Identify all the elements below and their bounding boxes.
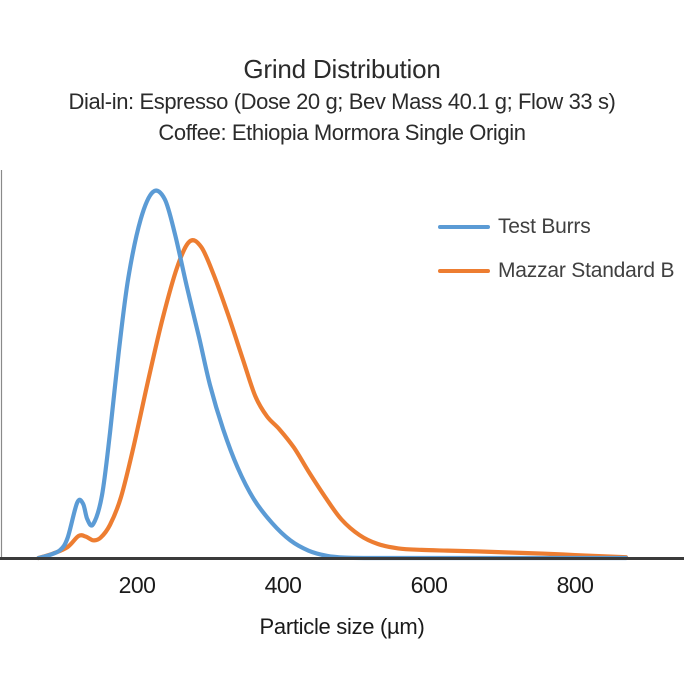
grind-distribution-chart: Grind Distribution Dial-in: Espresso (Do… bbox=[0, 0, 684, 684]
x-tick-label-800: 800 bbox=[557, 572, 594, 599]
legend-label-mazzar-standard-b: Mazzar Standard B bbox=[498, 259, 674, 283]
x-axis-tick-labels: 0200400600800 bbox=[0, 572, 684, 604]
legend-label-test-burrs: Test Burrs bbox=[498, 215, 591, 239]
legend-color-swatch-blue bbox=[438, 225, 490, 229]
x-axis-title: Particle size (µm) bbox=[0, 614, 684, 640]
legend-item-test-burrs[interactable]: Test Burrs bbox=[438, 205, 684, 249]
x-tick-label-600: 600 bbox=[411, 572, 448, 599]
chart-legend: Test Burrs Mazzar Standard B bbox=[438, 205, 684, 293]
x-tick-label-400: 400 bbox=[265, 572, 302, 599]
x-tick-label-200: 200 bbox=[119, 572, 156, 599]
legend-color-swatch-orange bbox=[438, 269, 490, 273]
legend-item-mazzar-standard-b[interactable]: Mazzar Standard B bbox=[438, 249, 684, 293]
